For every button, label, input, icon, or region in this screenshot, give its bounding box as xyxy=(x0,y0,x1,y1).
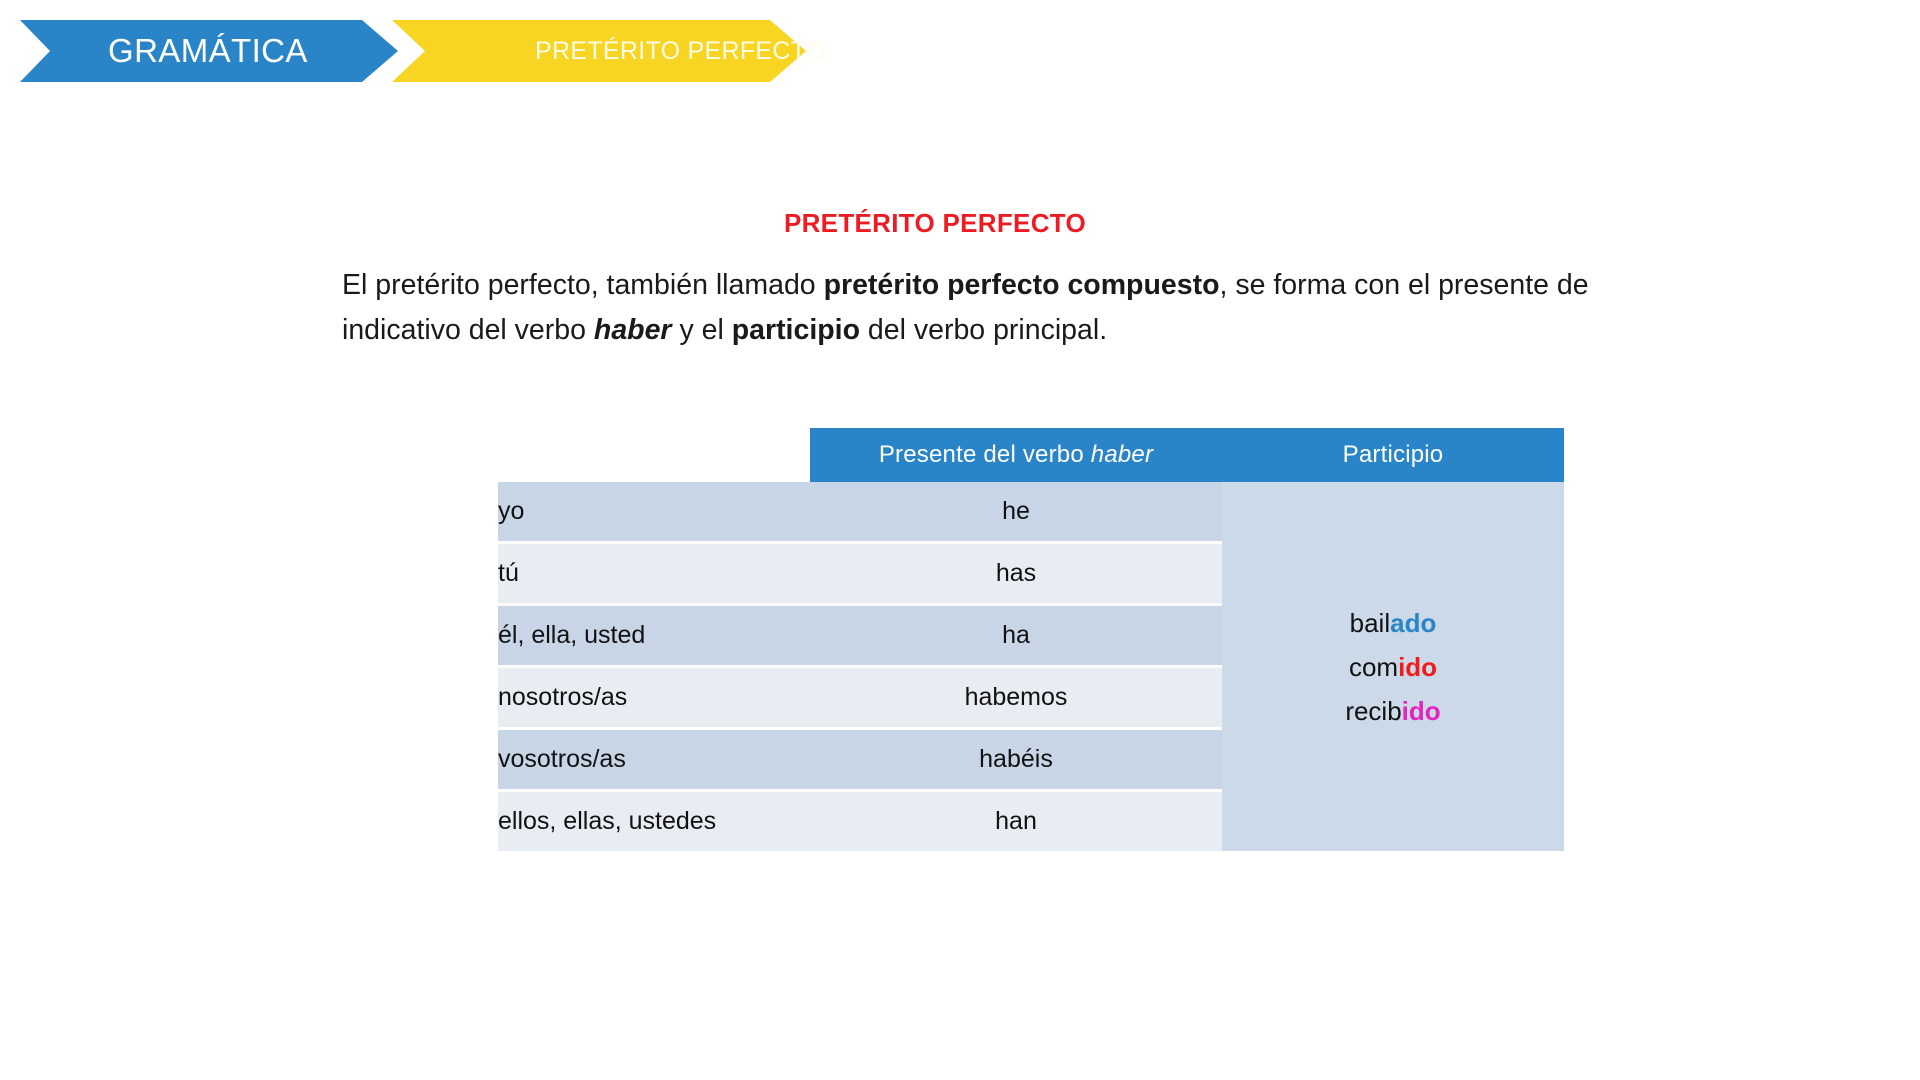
topic-banner: GRAMÁTICA PRETÉRITO PERFECTO xyxy=(0,20,1010,82)
table-header-row: Presente del verbo haber Participio xyxy=(498,428,1564,482)
header-haber-prefix: Presente del verbo xyxy=(879,441,1091,468)
cell-pronoun: nosotros/as xyxy=(498,668,810,727)
cell-pronoun: yo xyxy=(498,482,810,541)
cell-haber: habemos xyxy=(810,668,1222,727)
banner-shape xyxy=(0,20,1010,82)
banner-yellow-chevron xyxy=(392,20,806,82)
paragraph-text-3: y el xyxy=(672,314,732,346)
cell-haber: habéis xyxy=(810,730,1222,789)
participio-ending: ado xyxy=(1390,608,1436,638)
paragraph-text-1: El pretérito perfecto, también llamado xyxy=(342,269,824,301)
participio-stem: recib xyxy=(1345,696,1401,726)
cell-haber: han xyxy=(810,792,1222,851)
participio-item: comido xyxy=(1222,645,1564,689)
page-title: PRETÉRITO PERFECTO xyxy=(0,208,1870,239)
cell-pronoun: vosotros/as xyxy=(498,730,810,789)
participio-item: recibido xyxy=(1222,689,1564,733)
cell-pronoun: ellos, ellas, ustedes xyxy=(498,792,810,851)
header-haber-italic: haber xyxy=(1091,441,1153,468)
participio-item: bailado xyxy=(1222,601,1564,645)
cell-pronoun: él, ella, usted xyxy=(498,606,810,665)
intro-paragraph: El pretérito perfecto, también llamado p… xyxy=(342,263,1632,353)
participio-ending: ido xyxy=(1402,696,1441,726)
participio-ending: ido xyxy=(1398,652,1437,682)
paragraph-text-4: del verbo principal. xyxy=(860,314,1107,346)
paragraph-bold-1: pretérito perfecto compuesto xyxy=(824,269,1220,301)
cell-haber: ha xyxy=(810,606,1222,665)
banner-blue-chevron xyxy=(20,20,398,82)
header-haber: Presente del verbo haber xyxy=(810,428,1222,482)
participio-stem: com xyxy=(1349,652,1398,682)
cell-pronoun: tú xyxy=(498,544,810,603)
header-participio: Participio xyxy=(1222,428,1564,482)
paragraph-bolditalic-haber: haber xyxy=(594,314,672,346)
conjugation-table: Presente del verbo haber Participio yo h… xyxy=(498,428,1564,851)
cell-haber: he xyxy=(810,482,1222,541)
cell-participio-merged: bailado comido recibido xyxy=(1222,482,1564,851)
paragraph-bold-2: participio xyxy=(732,314,860,346)
cell-haber: has xyxy=(810,544,1222,603)
table-row: yo he bailado comido recibido xyxy=(498,482,1564,541)
participio-stem: bail xyxy=(1350,608,1390,638)
header-blank-cell xyxy=(498,428,810,482)
